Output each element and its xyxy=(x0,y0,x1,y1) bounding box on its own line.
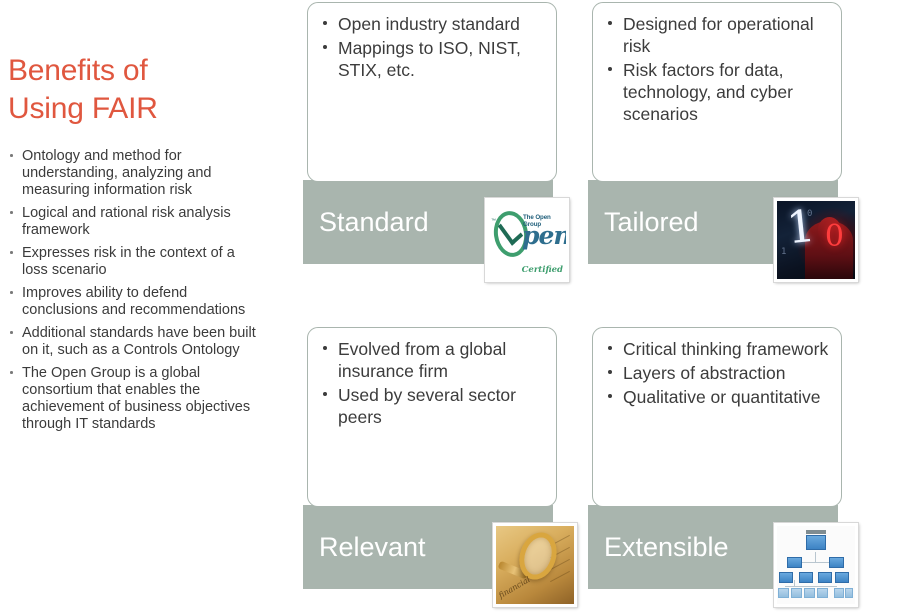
card-body-relevant: Evolved from a global insurance firm Use… xyxy=(307,327,557,507)
chart-node xyxy=(806,535,826,550)
bullet-text: Risk factors for data, technology, and c… xyxy=(623,60,793,124)
digit-one-glow: 1 xyxy=(785,205,817,252)
bullet-text: Improves ability to defend conclusions a… xyxy=(22,285,245,318)
bullet-text: Evolved from a global insurance firm xyxy=(338,339,506,381)
financial-word-text: financial xyxy=(497,575,532,600)
bullet-dot-icon xyxy=(608,394,612,398)
bullet-dot-icon xyxy=(323,45,327,49)
list-item: Improves ability to defend conclusions a… xyxy=(8,285,258,319)
chart-node xyxy=(818,572,832,583)
card-label-extensible: Extensible xyxy=(588,532,729,562)
chart-node xyxy=(817,588,828,598)
bullet-dot-icon xyxy=(323,392,327,396)
bullet-dot-icon xyxy=(323,21,327,25)
slide-canvas: Benefits of Using FAIR Ontology and meth… xyxy=(0,0,900,613)
bullet-text: Used by several sector peers xyxy=(338,385,516,427)
chart-node xyxy=(829,557,844,568)
bullet-text: Qualitative or quantitative xyxy=(623,387,820,407)
card-bullets-extensible: Critical thinking framework Layers of ab… xyxy=(603,338,831,408)
chart-node xyxy=(804,588,815,598)
connector-line-icon xyxy=(785,586,837,587)
bullet-text: Designed for operational risk xyxy=(623,14,814,56)
list-item: Additional standards have been built on … xyxy=(8,325,258,359)
card-label-relevant: Relevant xyxy=(303,532,426,562)
chart-node xyxy=(845,588,853,598)
chart-node xyxy=(835,572,849,583)
open-group-certified-logo-image: ™ The Open Group pen Certified xyxy=(485,198,569,282)
list-item: Evolved from a global insurance firm xyxy=(318,338,546,382)
list-item: Expresses risk in the context of a loss … xyxy=(8,245,258,279)
list-item: Mappings to ISO, NIST, STIX, etc. xyxy=(318,37,546,81)
bullet-text: Layers of abstraction xyxy=(623,363,785,383)
card-relevant[interactable]: Relevant Evolved from a global insurance… xyxy=(307,327,557,507)
bullet-dot-icon xyxy=(323,346,327,350)
bullet-dot-icon xyxy=(10,291,13,294)
card-bullets-standard: Open industry standard Mappings to ISO, … xyxy=(318,13,546,81)
chart-node xyxy=(834,588,844,598)
bullet-text: Expresses risk in the context of a loss … xyxy=(22,245,235,278)
list-item: Designed for operational risk xyxy=(603,13,831,57)
bullet-text: Ontology and method for understanding, a… xyxy=(22,148,211,198)
bullet-dot-icon xyxy=(10,251,13,254)
page-title: Benefits of Using FAIR xyxy=(8,52,258,128)
binary-digit-icon: 1 xyxy=(781,247,786,257)
list-item: Logical and rational risk analysis frame… xyxy=(8,205,258,239)
list-item: Risk factors for data, technology, and c… xyxy=(603,59,831,125)
card-standard[interactable]: Standard Open industry standard Mappings… xyxy=(307,2,557,182)
bullet-text: Additional standards have been built on … xyxy=(22,325,256,358)
connector-line-icon xyxy=(815,552,816,562)
bullet-dot-icon xyxy=(10,154,13,157)
chart-header-icon xyxy=(806,530,826,534)
open-wordmark: pen xyxy=(522,223,566,248)
left-panel: Benefits of Using FAIR Ontology and meth… xyxy=(8,52,258,439)
list-item: Critical thinking framework xyxy=(603,338,831,360)
bullet-dot-icon xyxy=(10,371,13,374)
list-item: Used by several sector peers xyxy=(318,384,546,428)
organization-chart-hierarchy-image xyxy=(774,523,858,607)
bullet-dot-icon xyxy=(608,21,612,25)
card-bullets-relevant: Evolved from a global insurance firm Use… xyxy=(318,338,546,428)
bullet-dot-icon xyxy=(10,331,13,334)
document-line-icon xyxy=(550,571,570,582)
chart-node xyxy=(799,572,813,583)
bullet-text: Open industry standard xyxy=(338,14,520,34)
list-item: Ontology and method for understanding, a… xyxy=(8,148,258,199)
card-label-tailored: Tailored xyxy=(588,207,699,237)
bullet-dot-icon xyxy=(608,346,612,350)
bullet-dot-icon xyxy=(608,67,612,71)
bullet-text: Critical thinking framework xyxy=(623,339,828,359)
chart-node xyxy=(791,588,802,598)
bullet-dot-icon xyxy=(10,211,13,214)
card-label-standard: Standard xyxy=(303,207,429,237)
benefits-list: Ontology and method for understanding, a… xyxy=(8,148,258,433)
card-tailored[interactable]: Tailored Designed for operational risk R… xyxy=(592,2,842,182)
bullet-dot-icon xyxy=(608,370,612,374)
bullet-text: Logical and rational risk analysis frame… xyxy=(22,205,231,238)
card-bullets-tailored: Designed for operational risk Risk facto… xyxy=(603,13,831,125)
certified-wordmark: Certified xyxy=(522,265,563,275)
list-item: Open industry standard xyxy=(318,13,546,35)
list-item: Layers of abstraction xyxy=(603,362,831,384)
card-extensible[interactable]: Extensible Critical thinking framework L… xyxy=(592,327,842,507)
chart-node xyxy=(787,557,802,568)
chart-node xyxy=(778,588,789,598)
list-item: Qualitative or quantitative xyxy=(603,386,831,408)
bullet-text: The Open Group is a global consortium th… xyxy=(22,365,250,432)
digit-zero-glow: 0 xyxy=(825,222,844,252)
list-item: The Open Group is a global consortium th… xyxy=(8,365,258,433)
card-body-extensible: Critical thinking framework Layers of ab… xyxy=(592,327,842,507)
cyber-hacker-binary-image: 1 0 1 1 0 xyxy=(774,198,858,282)
bullet-text: Mappings to ISO, NIST, STIX, etc. xyxy=(338,38,521,80)
card-body-tailored: Designed for operational risk Risk facto… xyxy=(592,2,842,182)
chart-node xyxy=(779,572,793,583)
card-body-standard: Open industry standard Mappings to ISO, … xyxy=(307,2,557,182)
magnifying-glass-financial-document-image: financial xyxy=(493,523,577,607)
